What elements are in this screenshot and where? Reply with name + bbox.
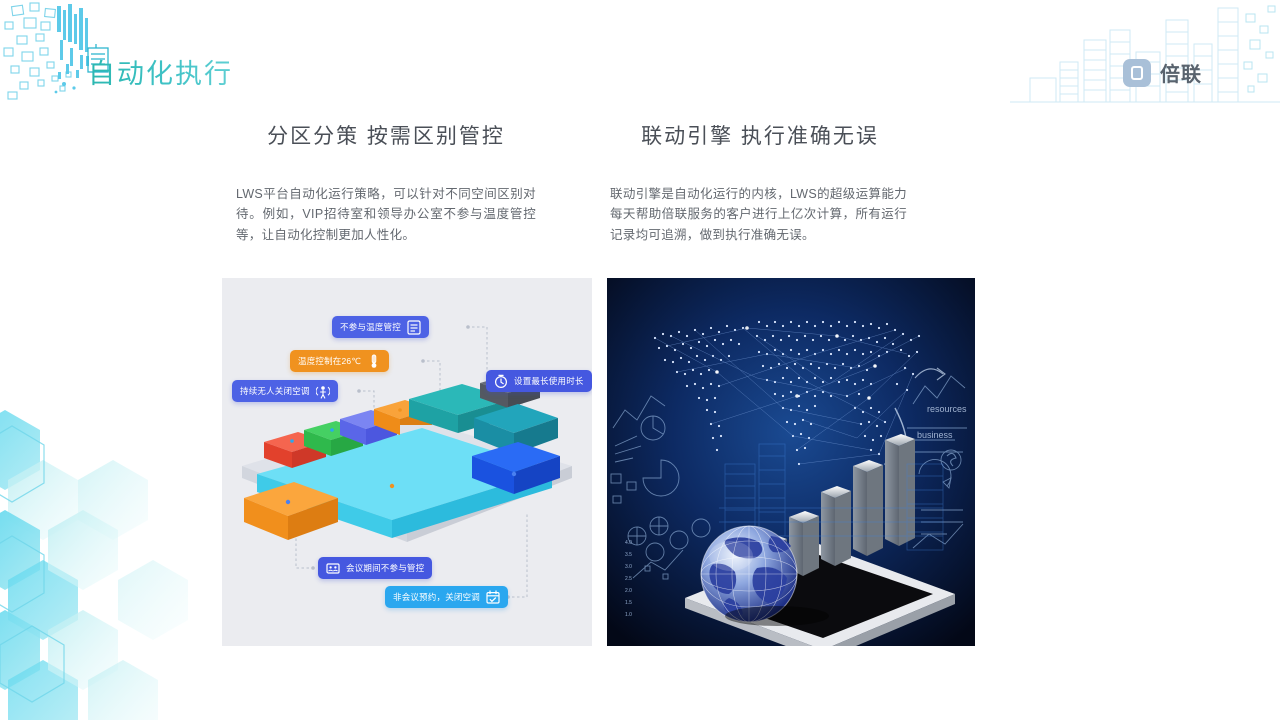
brand-name: 倍联 [1160, 58, 1202, 87]
tag-exempt-during-meeting: 会议期间不参与管控 [318, 557, 432, 579]
sketch-word-resources: resources [927, 404, 967, 414]
timer-icon [494, 374, 508, 389]
motion-sensor-icon [316, 384, 330, 399]
tag-label: 非会议预约，关闭空调 [393, 591, 480, 603]
rounded-square-logo-icon [1123, 59, 1151, 87]
brand-logo: 倍联 [1123, 58, 1202, 87]
calendar-check-icon [486, 590, 500, 605]
column-engine-body: 联动引擎是自动化运行的内核，LWS的超级运算能力每天帮助倍联服务的客户进行上亿次… [610, 184, 907, 245]
tag-auto-off-when-vacant: 持续无人关闭空调 [232, 380, 338, 402]
office-zoning-diagram-card: 卫生间 茶水间 接待间 办公室 特殊间 电梯间 大厅 会议室 办公区 招待室 不… [222, 278, 592, 646]
svg-text:3.0: 3.0 [625, 564, 632, 570]
tag-label: 温度控制在26℃ [298, 355, 361, 367]
svg-text:2.0: 2.0 [625, 588, 632, 594]
list-panel-icon [407, 320, 421, 335]
column-zoning-title: 分区分策 按需区别管控 [186, 120, 586, 150]
tag-label: 设置最长使用时长 [514, 375, 584, 387]
tag-label: 会议期间不参与管控 [346, 562, 424, 574]
svg-text:1.5: 1.5 [625, 600, 632, 606]
column-zoning: 分区分策 按需区别管控 LWS平台自动化运行策略，可以针对不同空间区别对待。例如… [186, 120, 586, 245]
tag-close-ac-when-unbooked: 非会议预约，关闭空调 [385, 586, 508, 608]
tag-label: 不参与温度管控 [340, 321, 401, 333]
hexagon-decoration-icon [0, 390, 210, 720]
svg-text:4.0: 4.0 [625, 540, 632, 546]
column-zoning-body: LWS平台自动化运行策略，可以针对不同空间区别对待。例如，VIP招待室和领导办公… [236, 184, 536, 245]
tag-max-usage-duration: 设置最长使用时长 [486, 370, 592, 392]
meeting-room-icon [326, 561, 340, 576]
svg-text:2.5: 2.5 [625, 576, 632, 582]
tag-no-temperature-control: 不参与温度管控 [332, 316, 429, 338]
column-engine-title: 联动引擎 执行准确无误 [560, 120, 960, 150]
column-engine: 联动引擎 执行准确无误 联动引擎是自动化运行的内核，LWS的超级运算能力每天帮助… [560, 120, 960, 245]
thermometer-icon [367, 354, 381, 369]
sketch-word-business: business [917, 430, 953, 440]
world-map-network-icon: 4.03.53.0 2.52.01.5 1.0 [607, 278, 975, 646]
slide-root: 自动化执行 倍联 分区分策 按需区别管控 LWS平台自动化运行策略，可以针对不同… [0, 0, 1280, 720]
page-title: 自动化执行 [88, 52, 233, 91]
data-engine-visual-card: 4.03.53.0 2.52.01.5 1.0 [607, 278, 975, 646]
tag-temperature-26c: 温度控制在26℃ [290, 350, 389, 372]
svg-text:1.0: 1.0 [625, 612, 632, 618]
tag-label: 持续无人关闭空调 [240, 385, 310, 397]
svg-text:3.5: 3.5 [625, 552, 632, 558]
